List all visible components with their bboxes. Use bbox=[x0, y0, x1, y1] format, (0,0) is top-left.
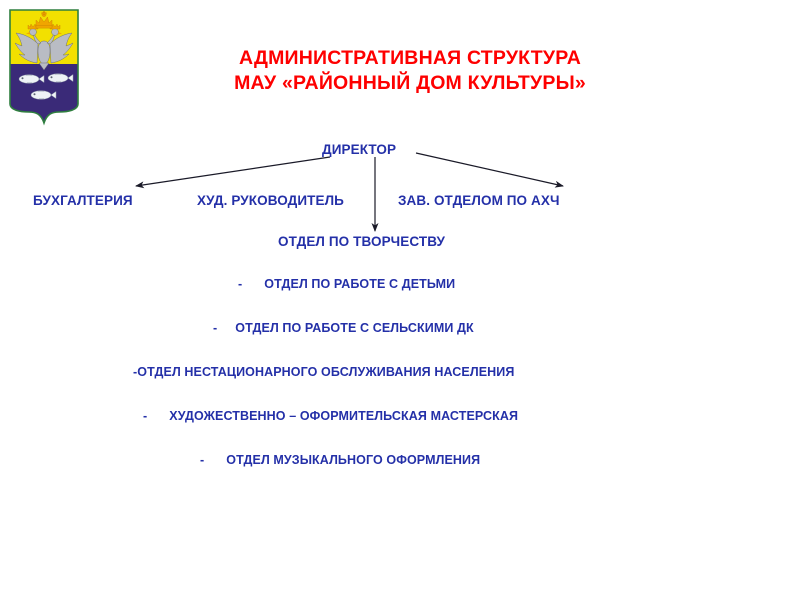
list-item: -ХУДОЖЕСТВЕННО – ОФОРМИТЕЛЬСКАЯ МАСТЕРСК… bbox=[143, 409, 518, 423]
coat-of-arms-emblem bbox=[8, 8, 80, 126]
list-bullet-dash: - bbox=[200, 453, 226, 467]
slide-canvas: АДМИНИСТРАТИВНАЯ СТРУКТУРА МАУ «РАЙОННЫЙ… bbox=[0, 0, 800, 600]
node-artistic-director: ХУД. РУКОВОДИТЕЛЬ bbox=[197, 193, 344, 208]
list-item: -ОТДЕЛ ПО РАБОТЕ С СЕЛЬСКИМИ ДК bbox=[213, 321, 474, 335]
list-item-label: ОТДЕЛ МУЗЫКАЛЬНОГО ОФОРМЛЕНИЯ bbox=[226, 453, 480, 467]
page-title: АДМИНИСТРАТИВНАЯ СТРУКТУРА МАУ «РАЙОННЫЙ… bbox=[100, 46, 720, 96]
list-item-label: ХУДОЖЕСТВЕННО – ОФОРМИТЕЛЬСКАЯ МАСТЕРСКА… bbox=[169, 409, 518, 423]
list-bullet-dash: - bbox=[213, 321, 235, 335]
node-admin-head: ЗАВ. ОТДЕЛОМ ПО АХЧ bbox=[398, 193, 560, 208]
node-creative-department: ОТДЕЛ ПО ТВОРЧЕСТВУ bbox=[278, 234, 445, 249]
list-bullet-dash: - bbox=[143, 409, 169, 423]
title-line-2: МАУ «РАЙОННЫЙ ДОМ КУЛЬТУРЫ» bbox=[100, 71, 720, 96]
list-item: -ОТДЕЛ НЕСТАЦИОНАРНОГО ОБСЛУЖИВАНИЯ НАСЕ… bbox=[133, 365, 514, 379]
coat-of-arms-icon bbox=[8, 8, 80, 126]
list-item-label: ОТДЕЛ ПО РАБОТЕ С ДЕТЬМИ bbox=[264, 277, 455, 291]
connector-to-admin-head bbox=[416, 153, 563, 186]
node-accounting: БУХГАЛТЕРИЯ bbox=[33, 193, 133, 208]
title-line-1: АДМИНИСТРАТИВНАЯ СТРУКТУРА bbox=[100, 46, 720, 71]
list-item: -ОТДЕЛ ПО РАБОТЕ С ДЕТЬМИ bbox=[238, 277, 455, 291]
list-item-label: ОТДЕЛ ПО РАБОТЕ С СЕЛЬСКИМИ ДК bbox=[235, 321, 474, 335]
list-item-label: ОТДЕЛ НЕСТАЦИОНАРНОГО ОБСЛУЖИВАНИЯ НАСЕЛ… bbox=[137, 365, 514, 379]
connector-to-accounting bbox=[136, 157, 330, 186]
list-item: -ОТДЕЛ МУЗЫКАЛЬНОГО ОФОРМЛЕНИЯ bbox=[200, 453, 480, 467]
list-bullet-dash: - bbox=[238, 277, 264, 291]
node-director: ДИРЕКТОР bbox=[322, 142, 396, 157]
